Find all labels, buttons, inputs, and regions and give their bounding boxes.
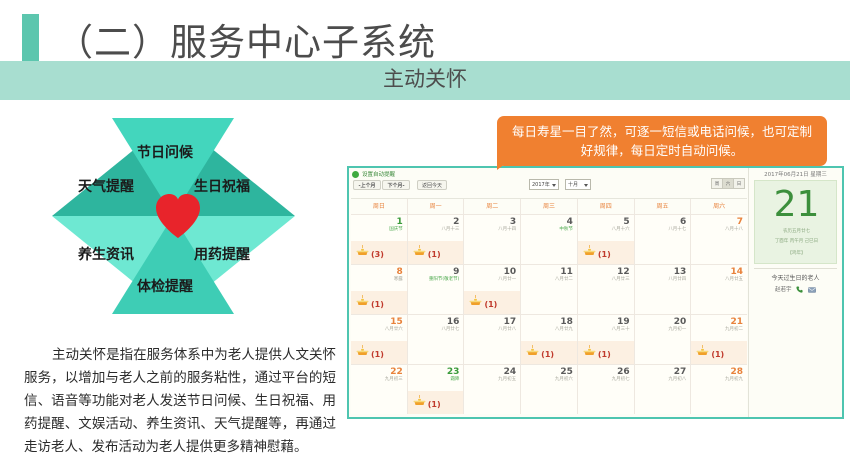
calendar-day-cell[interactable]: 25九月初六 <box>521 364 578 414</box>
weekday-header-2: 周二 <box>464 199 521 214</box>
calendar-day-cell[interactable]: 1国庆节(3) <box>351 214 408 264</box>
calendar-week-row: 1国庆节(3)2八月十三(1)3八月十四4中秋节5八月十六(1)6八月十七7八月… <box>351 214 747 264</box>
calendar-side-panel: 2017年06月21日 星期三 21 农历五月廿七 丁酉年 丙午月 己巳日 【鸡… <box>748 168 842 417</box>
birthday-entry[interactable]: (1) <box>469 291 497 310</box>
weekday-header-4: 周四 <box>578 199 635 214</box>
calendar-week-row: 15八月廿六(1)16八月廿七17八月廿八18八月廿九(1)19八月三十(1)2… <box>351 314 747 364</box>
calendar-day-cell[interactable]: 2八月十三(1) <box>408 214 465 264</box>
cake-icon <box>469 291 482 310</box>
calendar-main: 设置自动提醒 -上个月 下个月- 返回今天 2017年 十月 周 六 日 周日周… <box>349 168 749 417</box>
hex-label-jieri: 节日问候 <box>137 142 193 162</box>
lunar-date-label: 九月初五 <box>498 377 516 383</box>
day-number: 22 <box>390 367 403 377</box>
side-birthday-row: 赵若宇 <box>749 285 842 293</box>
day-number: 24 <box>504 367 517 377</box>
calendar-day-cell[interactable]: 20九月初一 <box>635 314 692 364</box>
day-number: 9 <box>453 267 459 277</box>
calendar-day-cell[interactable]: 12八月廿三 <box>578 264 635 314</box>
day-number: 27 <box>674 367 687 377</box>
side-lunar-line-3: 【鸡年】 <box>755 250 838 256</box>
lunar-date-label: 九月初九 <box>725 377 743 383</box>
callout-bubble: 每日寿星一目了然，可逐一短信或电话问候，也可定制好规律，每日定时自动问候。 <box>497 116 827 166</box>
birthday-count: (1) <box>371 350 384 360</box>
lunar-date-label: 八月十三 <box>441 227 459 233</box>
year-select-value: 2017年 <box>532 182 550 188</box>
birthday-count: (1) <box>428 400 441 410</box>
day-number: 1 <box>396 217 402 227</box>
calendar-weeks: 1国庆节(3)2八月十三(1)3八月十四4中秋节5八月十六(1)6八月十七7八月… <box>351 214 747 414</box>
lunar-date-label: 寒露 <box>394 277 403 283</box>
cake-icon <box>413 241 426 260</box>
cake-icon <box>583 241 596 260</box>
calendar-day-cell[interactable]: 17八月廿八 <box>464 314 521 364</box>
day-number: 13 <box>674 267 687 277</box>
side-lunar-line-2: 丁酉年 丙午月 己巳日 <box>755 238 838 244</box>
calendar-day-cell[interactable]: 21九月初二(1) <box>691 314 747 364</box>
birthday-count: (1) <box>598 250 611 260</box>
title-accent-bar <box>22 14 39 66</box>
calendar-day-cell[interactable]: 14八月廿五 <box>691 264 747 314</box>
day-number: 14 <box>731 267 744 277</box>
day-number: 17 <box>504 317 517 327</box>
today-button[interactable]: 返回今天 <box>417 180 447 190</box>
cake-icon <box>583 341 596 360</box>
day-number: 4 <box>567 217 573 227</box>
day-number: 16 <box>447 317 460 327</box>
calendar-day-cell[interactable]: 27九月初八 <box>635 364 692 414</box>
lunar-date-label: 九月初三 <box>385 377 403 383</box>
birthday-count: (1) <box>371 300 384 310</box>
weekday-header-0: 周日 <box>351 199 408 214</box>
lunar-date-label: 国庆节 <box>389 227 403 233</box>
calendar-day-cell[interactable]: 22九月初三 <box>351 364 408 414</box>
lunar-date-label: 八月廿八 <box>498 327 516 333</box>
birthday-entry[interactable]: (1) <box>696 341 724 360</box>
cake-icon <box>356 341 369 360</box>
calendar-day-cell[interactable]: 26九月初七 <box>578 364 635 414</box>
lunar-date-label: 八月廿九 <box>555 327 573 333</box>
page-header: （二）服务中心子系统 主动关怀 <box>0 0 850 100</box>
calendar-day-cell[interactable]: 4中秋节 <box>521 214 578 264</box>
cake-icon <box>356 291 369 310</box>
lunar-date-label: 中秋节 <box>559 227 573 233</box>
day-number: 11 <box>560 267 573 277</box>
hex-label-tianqi: 天气提醒 <box>78 176 134 196</box>
page-title: （二）服务中心子系统 <box>56 12 436 66</box>
birthday-entry[interactable]: (1) <box>413 241 441 260</box>
birthday-entry[interactable]: (1) <box>526 341 554 360</box>
description-paragraph: 主动关怀是指在服务体系中为老人提供人文关怀服务，以增加与老人之前的服务粘性，通过… <box>24 344 336 459</box>
birthday-entry[interactable]: (1) <box>583 341 611 360</box>
calendar-week-row: 22九月初三23霜降(1)24九月初五25九月初六26九月初七27九月初八28九… <box>351 364 747 414</box>
calendar-day-cell[interactable]: 11八月廿二 <box>521 264 578 314</box>
day-number: 3 <box>510 217 516 227</box>
calendar-day-cell[interactable]: 23霜降(1) <box>408 364 465 414</box>
calendar-day-cell[interactable]: 3八月十四 <box>464 214 521 264</box>
birthday-entry[interactable]: (1) <box>356 341 384 360</box>
lunar-date-label: 八月廿六 <box>385 327 403 333</box>
birthday-entry[interactable]: (1) <box>356 291 384 310</box>
day-number: 12 <box>617 267 630 277</box>
day-number: 20 <box>674 317 687 327</box>
cake-icon <box>413 391 426 410</box>
lunar-date-label: 九月初八 <box>668 377 686 383</box>
side-birthday-title: 今天过生日的老人 <box>749 273 842 282</box>
calendar-day-cell[interactable]: 19八月三十(1) <box>578 314 635 364</box>
cake-icon <box>696 341 709 360</box>
chevron-down-icon <box>584 184 588 187</box>
day-number: 2 <box>453 217 459 227</box>
phone-icon[interactable] <box>796 286 803 293</box>
birthday-count: (1) <box>541 350 554 360</box>
lunar-date-label: 八月三十 <box>612 327 630 333</box>
day-number: 15 <box>390 317 403 327</box>
month-select[interactable]: 十月 <box>565 179 591 190</box>
weekday-header-1: 周一 <box>408 199 465 214</box>
birthday-count: (1) <box>598 350 611 360</box>
lunar-date-label: 八月十四 <box>498 227 516 233</box>
cake-icon <box>356 241 369 260</box>
calendar-day-cell[interactable]: 15八月廿六(1) <box>351 314 408 364</box>
lunar-date-label: 八月廿五 <box>725 277 743 283</box>
lunar-date-label: 重阳节(敬老节) <box>429 277 460 283</box>
day-number: 10 <box>504 267 517 277</box>
birthday-entry[interactable]: (1) <box>413 391 441 410</box>
lunar-date-label: 八月廿二 <box>555 277 573 283</box>
weekday-header-5: 周五 <box>635 199 692 214</box>
weekend-toggle[interactable]: 周 六 日 <box>712 178 745 189</box>
side-big-day: 21 <box>755 185 838 225</box>
birthday-entry[interactable]: (3) <box>356 241 384 260</box>
side-birthday-name: 赵若宇 <box>775 287 792 293</box>
lunar-date-label: 八月廿四 <box>668 277 686 283</box>
prev-month-button[interactable]: -上个月 <box>353 180 381 190</box>
birthday-entry[interactable]: (1) <box>583 241 611 260</box>
next-month-button[interactable]: 下个月- <box>382 180 410 190</box>
lunar-date-label: 八月十六 <box>612 227 630 233</box>
day-number: 18 <box>560 317 573 327</box>
day-number: 6 <box>680 217 686 227</box>
hex-label-yongyao: 用药提醒 <box>194 244 250 264</box>
calendar-grid: 周日周一周二周三周四周五周六 1国庆节(3)2八月十三(1)3八月十四4中秋节5… <box>351 198 747 415</box>
calendar-day-cell[interactable]: 5八月十六(1) <box>578 214 635 264</box>
year-select[interactable]: 2017年 <box>529 179 559 190</box>
calendar-day-cell[interactable]: 6八月十七 <box>635 214 692 264</box>
weekday-header-3: 周三 <box>521 199 578 214</box>
day-number: 8 <box>396 267 402 277</box>
calendar-day-cell[interactable]: 7八月十八 <box>691 214 747 264</box>
calendar-day-cell[interactable]: 16八月廿七 <box>408 314 465 364</box>
calendar-day-cell[interactable]: 24九月初五 <box>464 364 521 414</box>
header-divider <box>0 100 850 103</box>
calendar-week-row: 8寒露(1)9重阳节(敬老节)10八月廿一(1)11八月廿二12八月廿三13八月… <box>351 264 747 314</box>
day-number: 21 <box>731 317 744 327</box>
day-number: 7 <box>737 217 743 227</box>
lunar-date-label: 九月初七 <box>612 377 630 383</box>
day-number: 19 <box>617 317 630 327</box>
calendar-day-cell[interactable]: 13八月廿四 <box>635 264 692 314</box>
cake-icon <box>526 341 539 360</box>
page-subtitle: 主动关怀 <box>0 63 850 93</box>
weekday-header-6: 周六 <box>691 199 747 214</box>
calendar-app[interactable]: 设置自动提醒 -上个月 下个月- 返回今天 2017年 十月 周 六 日 周日周… <box>347 166 844 419</box>
lunar-date-label: 九月初二 <box>725 327 743 333</box>
side-date-box: 21 农历五月廿七 丁酉年 丙午月 己巳日 【鸡年】 <box>754 180 837 264</box>
day-number: 5 <box>623 217 629 227</box>
calendar-day-cell[interactable]: 28九月初九 <box>691 364 747 414</box>
lunar-date-label: 八月廿三 <box>612 277 630 283</box>
lunar-date-label: 八月十八 <box>725 227 743 233</box>
lunar-date-label: 八月十七 <box>668 227 686 233</box>
lunar-date-label: 九月初六 <box>555 377 573 383</box>
calendar-day-cell[interactable]: 18八月廿九(1) <box>521 314 578 364</box>
calendar-toolbar: 设置自动提醒 -上个月 下个月- 返回今天 2017年 十月 周 六 日 <box>349 168 749 198</box>
hex-label-yangsheng: 养生资讯 <box>78 244 134 264</box>
day-number: 28 <box>731 367 744 377</box>
calendar-day-cell[interactable]: 8寒露(1) <box>351 264 408 314</box>
hex-label-tijian: 体检提醒 <box>137 276 193 296</box>
birthday-count: (1) <box>484 300 497 310</box>
sms-icon[interactable] <box>808 287 816 293</box>
day-number: 23 <box>447 367 460 377</box>
day-number: 26 <box>617 367 630 377</box>
birthday-count: (1) <box>711 350 724 360</box>
hexagon-diagram: 节日问候 生日祝福 用药提醒 体检提醒 养生资讯 天气提醒 <box>52 118 295 314</box>
birthday-count: (1) <box>428 250 441 260</box>
callout-text: 每日寿星一目了然，可逐一短信或电话问候，也可定制好规律，每日定时自动问候。 <box>507 122 817 160</box>
lunar-date-label: 霜降 <box>450 377 459 383</box>
auto-reminder-link[interactable]: 设置自动提醒 <box>353 170 395 178</box>
weekday-header-row: 周日周一周二周三周四周五周六 <box>351 198 747 214</box>
calendar-day-cell[interactable]: 10八月廿一(1) <box>464 264 521 314</box>
birthday-count: (3) <box>371 250 384 260</box>
chevron-down-icon <box>552 184 556 187</box>
month-select-value: 十月 <box>568 182 578 188</box>
side-divider <box>754 268 837 269</box>
heart-icon <box>152 190 204 242</box>
side-full-date: 2017年06月21日 星期三 <box>749 170 842 178</box>
weekend-toggle-sun[interactable]: 日 <box>733 178 745 189</box>
lunar-date-label: 八月廿七 <box>441 327 459 333</box>
calendar-day-cell[interactable]: 9重阳节(敬老节) <box>408 264 465 314</box>
day-number: 25 <box>560 367 573 377</box>
lunar-date-label: 八月廿一 <box>498 277 516 283</box>
lunar-date-label: 九月初一 <box>668 327 686 333</box>
side-lunar-line-1: 农历五月廿七 <box>755 228 838 234</box>
